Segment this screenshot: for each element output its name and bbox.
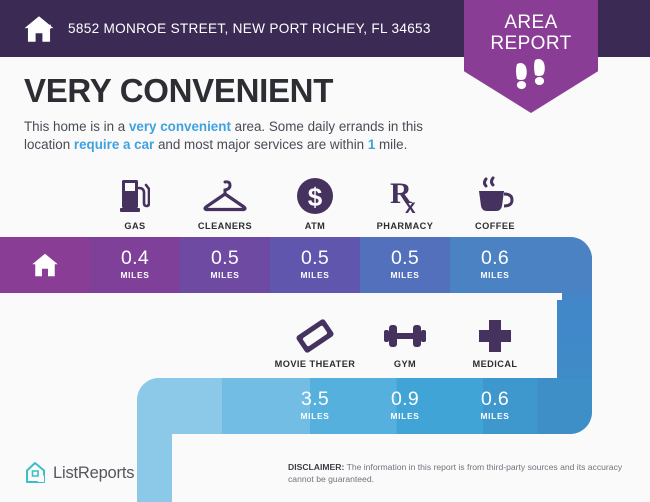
category-cleaners: CLEANERS [180, 176, 270, 231]
distance-pharmacy: 0.5 MILES [360, 248, 450, 280]
disclaimer: DISCLAIMER: The information in this repo… [288, 462, 640, 485]
category-label: MEDICAL [450, 359, 540, 369]
category-label: COFFEE [450, 221, 540, 231]
disclaimer-label: DISCLAIMER: [288, 462, 344, 472]
distance-unit: MILES [180, 270, 270, 280]
badge-line-1: AREA [464, 12, 598, 33]
distance-unit: MILES [360, 411, 450, 421]
distance-gym: 0.9 MILES [360, 389, 450, 421]
summary-highlight-1: very convenient [129, 119, 231, 134]
distance-gas: 0.4 MILES [90, 248, 180, 280]
movie-ticket-icon [294, 318, 336, 354]
distance-movie-theater: 3.5 MILES [270, 389, 360, 421]
logo-text: ListReports [53, 464, 134, 483]
category-label: ATM [270, 221, 360, 231]
gas-pump-icon [120, 176, 150, 216]
coffee-cup-icon [474, 176, 516, 216]
distance-coffee: 0.6 MILES [450, 248, 540, 280]
badge-line-2: REPORT [464, 33, 598, 54]
rx-icon: R x [386, 176, 424, 216]
summary-part-3: and most major services are within [154, 137, 368, 152]
distance-value: 0.6 [450, 389, 540, 410]
category-gas: GAS [90, 176, 180, 231]
category-label: MOVIE THEATER [270, 359, 360, 369]
distance-atm: 0.5 MILES [270, 248, 360, 280]
dollar-circle-icon: $ [296, 176, 334, 216]
category-medical: MEDICAL [450, 318, 540, 369]
footprints-icon [509, 58, 553, 92]
category-pharmacy: R x PHARMACY [360, 176, 450, 231]
medical-cross-icon [476, 318, 514, 354]
distance-unit: MILES [450, 270, 540, 280]
distance-value: 0.4 [90, 248, 180, 269]
summary-highlight-2: require a car [74, 137, 154, 152]
page-title: VERY CONVENIENT [24, 72, 333, 110]
distance-unit: MILES [270, 270, 360, 280]
category-label: CLEANERS [180, 221, 270, 231]
category-movie-theater: MOVIE THEATER [270, 318, 360, 369]
summary-part-4: mile. [375, 137, 407, 152]
category-atm: $ ATM [270, 176, 360, 231]
dumbbell-icon [382, 318, 428, 354]
distance-value: 0.5 [180, 248, 270, 269]
svg-text:x: x [405, 197, 416, 216]
distance-unit: MILES [90, 270, 180, 280]
summary-text: This home is in a very convenient area. … [24, 118, 464, 154]
category-label: PHARMACY [360, 221, 450, 231]
home-marker-icon [30, 250, 60, 280]
distance-unit: MILES [270, 411, 360, 421]
distance-value: 0.5 [360, 248, 450, 269]
distance-value: 3.5 [270, 389, 360, 410]
category-coffee: COFFEE [450, 176, 540, 231]
listreports-house-icon [24, 461, 46, 485]
distance-unit: MILES [450, 411, 540, 421]
distance-cleaners: 0.5 MILES [180, 248, 270, 280]
distance-unit: MILES [360, 270, 450, 280]
home-icon [22, 12, 56, 46]
distance-medical: 0.6 MILES [450, 389, 540, 421]
distance-value: 0.5 [270, 248, 360, 269]
category-gym: GYM [360, 318, 450, 369]
category-label: GYM [360, 359, 450, 369]
summary-part-1: This home is in a [24, 119, 129, 134]
distance-value: 0.9 [360, 389, 450, 410]
listreports-logo[interactable]: ListReports [24, 461, 134, 485]
area-report-infographic: 5852 MONROE STREET, NEW PORT RICHEY, FL … [0, 0, 650, 502]
distance-value: 0.6 [450, 248, 540, 269]
hanger-icon [202, 176, 248, 216]
svg-text:$: $ [308, 182, 323, 212]
property-address: 5852 MONROE STREET, NEW PORT RICHEY, FL … [68, 21, 431, 36]
area-report-badge: AREA REPORT [464, 0, 598, 113]
category-label: GAS [90, 221, 180, 231]
